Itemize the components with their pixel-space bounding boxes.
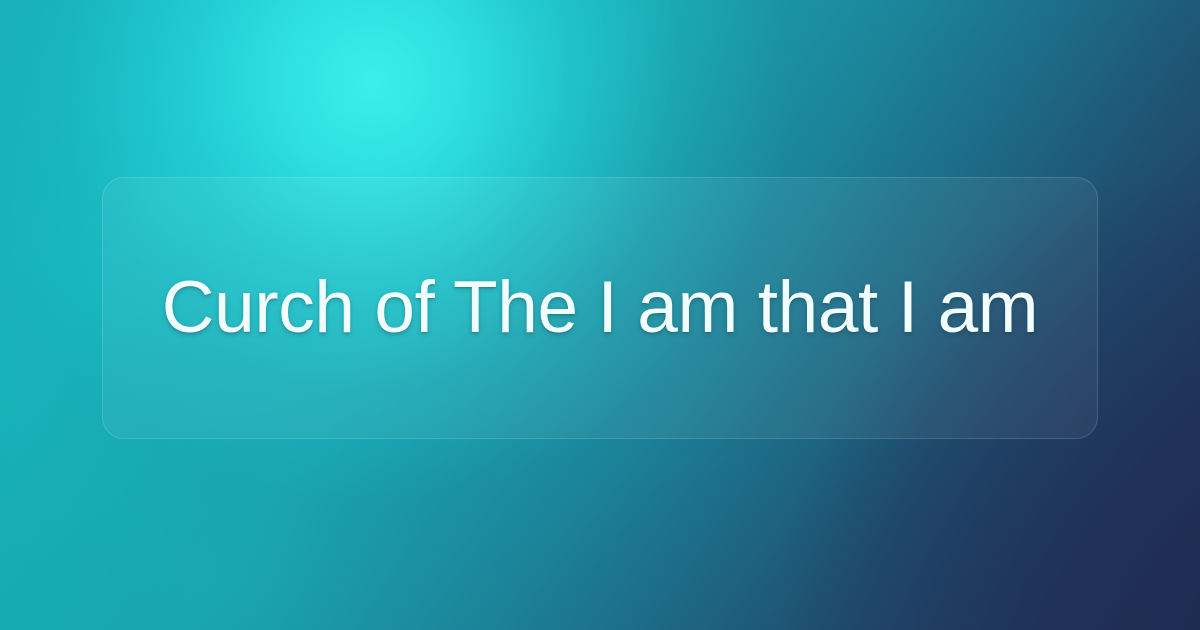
page-title: Curch of The I am that I am	[162, 267, 1038, 349]
og-image-canvas: Curch of The I am that I am	[0, 0, 1200, 630]
card-layer: Curch of The I am that I am	[0, 0, 1200, 630]
title-card: Curch of The I am that I am	[102, 177, 1098, 439]
